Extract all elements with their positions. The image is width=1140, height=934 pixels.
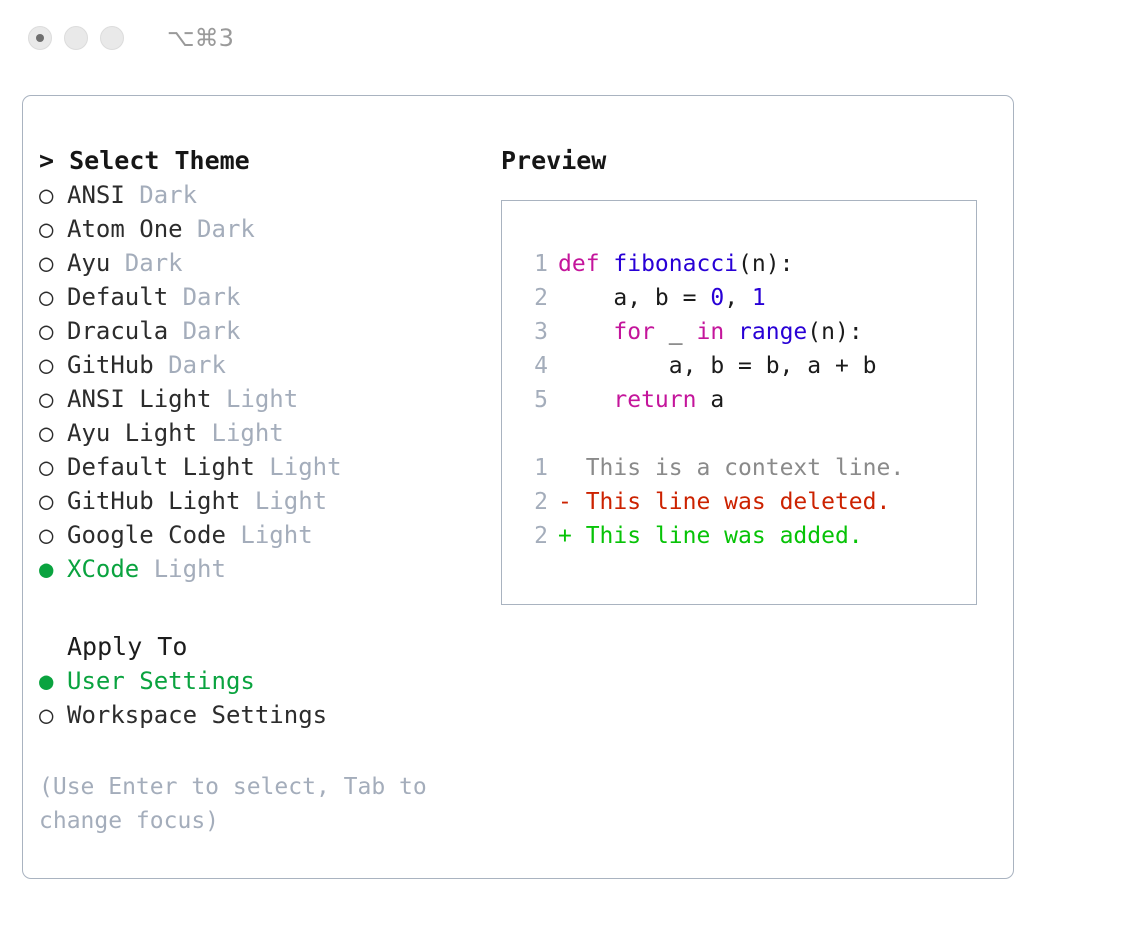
code-token-pl: ( xyxy=(738,251,752,277)
radio-unselected-icon: ○ xyxy=(39,518,67,552)
code-token-pl: ): xyxy=(766,251,794,277)
line-number: 2 xyxy=(516,281,548,315)
theme-option-name: GitHub xyxy=(67,351,154,379)
code-line-text: return a xyxy=(548,387,724,413)
radio-unselected-icon: ○ xyxy=(39,178,67,212)
radio-unselected-icon: ○ xyxy=(39,484,67,518)
window-controls xyxy=(28,26,124,50)
line-number: 2 xyxy=(516,519,548,553)
code-line: 2 a, b = 0, 1 xyxy=(516,281,904,315)
theme-option-name: Google Code xyxy=(67,521,226,549)
theme-option-name: Ayu xyxy=(67,249,110,277)
theme-option-google-code[interactable]: ○Google Code Light xyxy=(39,518,509,552)
diff-line-text: - This line was deleted. xyxy=(548,489,890,515)
theme-option-category: Dark xyxy=(168,317,240,345)
theme-option-category: Light xyxy=(255,453,342,481)
heading-caret: > xyxy=(39,146,69,175)
theme-option-name: GitHub Light xyxy=(67,487,240,515)
radio-unselected-icon: ○ xyxy=(39,348,67,382)
code-preview: 1def fibonacci(n):2 a, b = 0, 13 for _ i… xyxy=(516,247,904,553)
diff-marker: - xyxy=(558,489,572,515)
radio-unselected-icon: ○ xyxy=(39,280,67,314)
code-token-fn: range xyxy=(738,319,807,345)
diff-marker: + xyxy=(558,523,572,549)
radio-unselected-icon: ○ xyxy=(39,246,67,280)
code-token-pl xyxy=(558,387,613,413)
radio-selected-icon: ● xyxy=(39,664,67,698)
code-token-pl: a xyxy=(696,387,724,413)
theme-option-name: Default Light xyxy=(67,453,255,481)
code-line: 3 for _ in range(n): xyxy=(516,315,904,349)
line-number: 1 xyxy=(516,451,548,485)
theme-option-name: Ayu Light xyxy=(67,419,197,447)
preview-box: 1def fibonacci(n):2 a, b = 0, 13 for _ i… xyxy=(501,200,977,605)
apply-to-option-name: Workspace Settings xyxy=(67,701,327,729)
line-number: 4 xyxy=(516,349,548,383)
apply-to-option-workspace-settings[interactable]: ○Workspace Settings xyxy=(39,698,509,732)
code-line-text: def fibonacci(n): xyxy=(548,251,793,277)
heading-text: Select Theme xyxy=(69,146,250,175)
code-line-text: a, b = b, a + b xyxy=(548,353,877,379)
code-token-pl: a, b = b, a + b xyxy=(558,353,877,379)
theme-option-category: Dark xyxy=(154,351,226,379)
radio-unselected-icon: ○ xyxy=(39,698,67,732)
diff-line-text: This is a context line. xyxy=(548,455,904,481)
preview-spacer xyxy=(516,417,904,451)
window-control-dot-1[interactable] xyxy=(28,26,52,50)
theme-option-category: Dark xyxy=(168,283,240,311)
theme-option-name: ANSI xyxy=(67,181,125,209)
theme-option-category: Light xyxy=(240,487,327,515)
diff-line-ctx: 1 This is a context line. xyxy=(516,451,904,485)
theme-option-category: Dark xyxy=(110,249,182,277)
code-token-kw: def xyxy=(558,251,613,277)
radio-unselected-icon: ○ xyxy=(39,382,67,416)
theme-option-atom-one[interactable]: ○Atom One Dark xyxy=(39,212,509,246)
code-line: 4 a, b = b, a + b xyxy=(516,349,904,383)
line-number: 2 xyxy=(516,485,548,519)
code-token-pl: n xyxy=(752,251,766,277)
theme-option-category: Light xyxy=(226,521,313,549)
line-number: 1 xyxy=(516,247,548,281)
theme-option-github[interactable]: ○GitHub Dark xyxy=(39,348,509,382)
code-token-pl: , xyxy=(724,285,752,311)
code-token-kw: return xyxy=(613,387,696,413)
code-line: 5 return a xyxy=(516,383,904,417)
code-token-pl: a, b = xyxy=(558,285,710,311)
terminal-window: ⌥⌘3 > Select Theme ○ANSI Dark○Atom One D… xyxy=(0,0,1140,934)
theme-option-xcode[interactable]: ●XCode Light xyxy=(39,552,509,586)
diff-marker xyxy=(558,455,572,481)
theme-option-ayu[interactable]: ○Ayu Dark xyxy=(39,246,509,280)
preview-column: Preview 1def fibonacci(n):2 a, b = 0, 13… xyxy=(501,144,1001,605)
keyboard-hint-text: (Use Enter to select, Tab to change focu… xyxy=(39,770,449,838)
code-token-num: 1 xyxy=(752,285,766,311)
radio-unselected-icon: ○ xyxy=(39,450,67,484)
diff-line-text: + This line was added. xyxy=(548,523,863,549)
apply-to-option-list: ●User Settings○Workspace Settings xyxy=(39,664,509,732)
diff-text: This line was added. xyxy=(572,523,863,549)
theme-selector-panel: > Select Theme ○ANSI Dark○Atom One Dark○… xyxy=(22,95,1014,879)
code-token-kw: for xyxy=(613,319,655,345)
diff-line-del: 2- This line was deleted. xyxy=(516,485,904,519)
theme-option-category: Dark xyxy=(125,181,197,209)
theme-option-category: Light xyxy=(212,385,299,413)
theme-option-category: Light xyxy=(139,555,226,583)
keyboard-shortcut-label: ⌥⌘3 xyxy=(167,24,234,52)
theme-list-column: > Select Theme ○ANSI Dark○Atom One Dark○… xyxy=(39,144,509,838)
theme-option-ansi[interactable]: ○ANSI Dark xyxy=(39,178,509,212)
line-number: 5 xyxy=(516,383,548,417)
code-token-fn: fibonacci xyxy=(613,251,738,277)
theme-option-list: ○ANSI Dark○Atom One Dark○Ayu Dark○Defaul… xyxy=(39,178,509,586)
apply-to-option-name: User Settings xyxy=(67,667,255,695)
code-token-kw: in xyxy=(696,319,724,345)
window-control-dot-3[interactable] xyxy=(100,26,124,50)
code-line: 1def fibonacci(n): xyxy=(516,247,904,281)
radio-unselected-icon: ○ xyxy=(39,212,67,246)
select-theme-heading: > Select Theme xyxy=(39,144,509,178)
theme-option-name: Default xyxy=(67,283,168,311)
apply-to-option-user-settings[interactable]: ●User Settings xyxy=(39,664,509,698)
line-number: 3 xyxy=(516,315,548,349)
preview-heading: Preview xyxy=(501,144,1001,178)
diff-line-add: 2+ This line was added. xyxy=(516,519,904,553)
apply-to-section: Apply To ●User Settings○Workspace Settin… xyxy=(39,630,509,732)
theme-option-name: ANSI Light xyxy=(67,385,212,413)
theme-option-category: Light xyxy=(197,419,284,447)
theme-option-name: XCode xyxy=(67,555,139,583)
record-dot-icon xyxy=(36,34,44,42)
code-line-text: for _ in range(n): xyxy=(548,319,863,345)
radio-selected-icon: ● xyxy=(39,552,67,586)
theme-option-default-light[interactable]: ○Default Light Light xyxy=(39,450,509,484)
window-titlebar: ⌥⌘3 xyxy=(0,0,1140,78)
diff-text: This line was deleted. xyxy=(572,489,891,515)
theme-option-default[interactable]: ○Default Dark xyxy=(39,280,509,314)
theme-option-dracula[interactable]: ○Dracula Dark xyxy=(39,314,509,348)
code-token-pl: (n): xyxy=(807,319,862,345)
code-token-num: 0 xyxy=(710,285,724,311)
theme-option-name: Atom One xyxy=(67,215,183,243)
window-control-dot-2[interactable] xyxy=(64,26,88,50)
theme-option-github-light[interactable]: ○GitHub Light Light xyxy=(39,484,509,518)
code-token-pl: _ xyxy=(655,319,697,345)
diff-text: This is a context line. xyxy=(572,455,904,481)
theme-option-category: Dark xyxy=(183,215,255,243)
theme-option-ansi-light[interactable]: ○ANSI Light Light xyxy=(39,382,509,416)
code-line-text: a, b = 0, 1 xyxy=(548,285,766,311)
radio-unselected-icon: ○ xyxy=(39,416,67,450)
theme-option-name: Dracula xyxy=(67,317,168,345)
apply-to-heading: Apply To xyxy=(39,630,509,664)
code-token-pl xyxy=(558,319,613,345)
theme-option-ayu-light[interactable]: ○Ayu Light Light xyxy=(39,416,509,450)
radio-unselected-icon: ○ xyxy=(39,314,67,348)
code-token-pl xyxy=(724,319,738,345)
